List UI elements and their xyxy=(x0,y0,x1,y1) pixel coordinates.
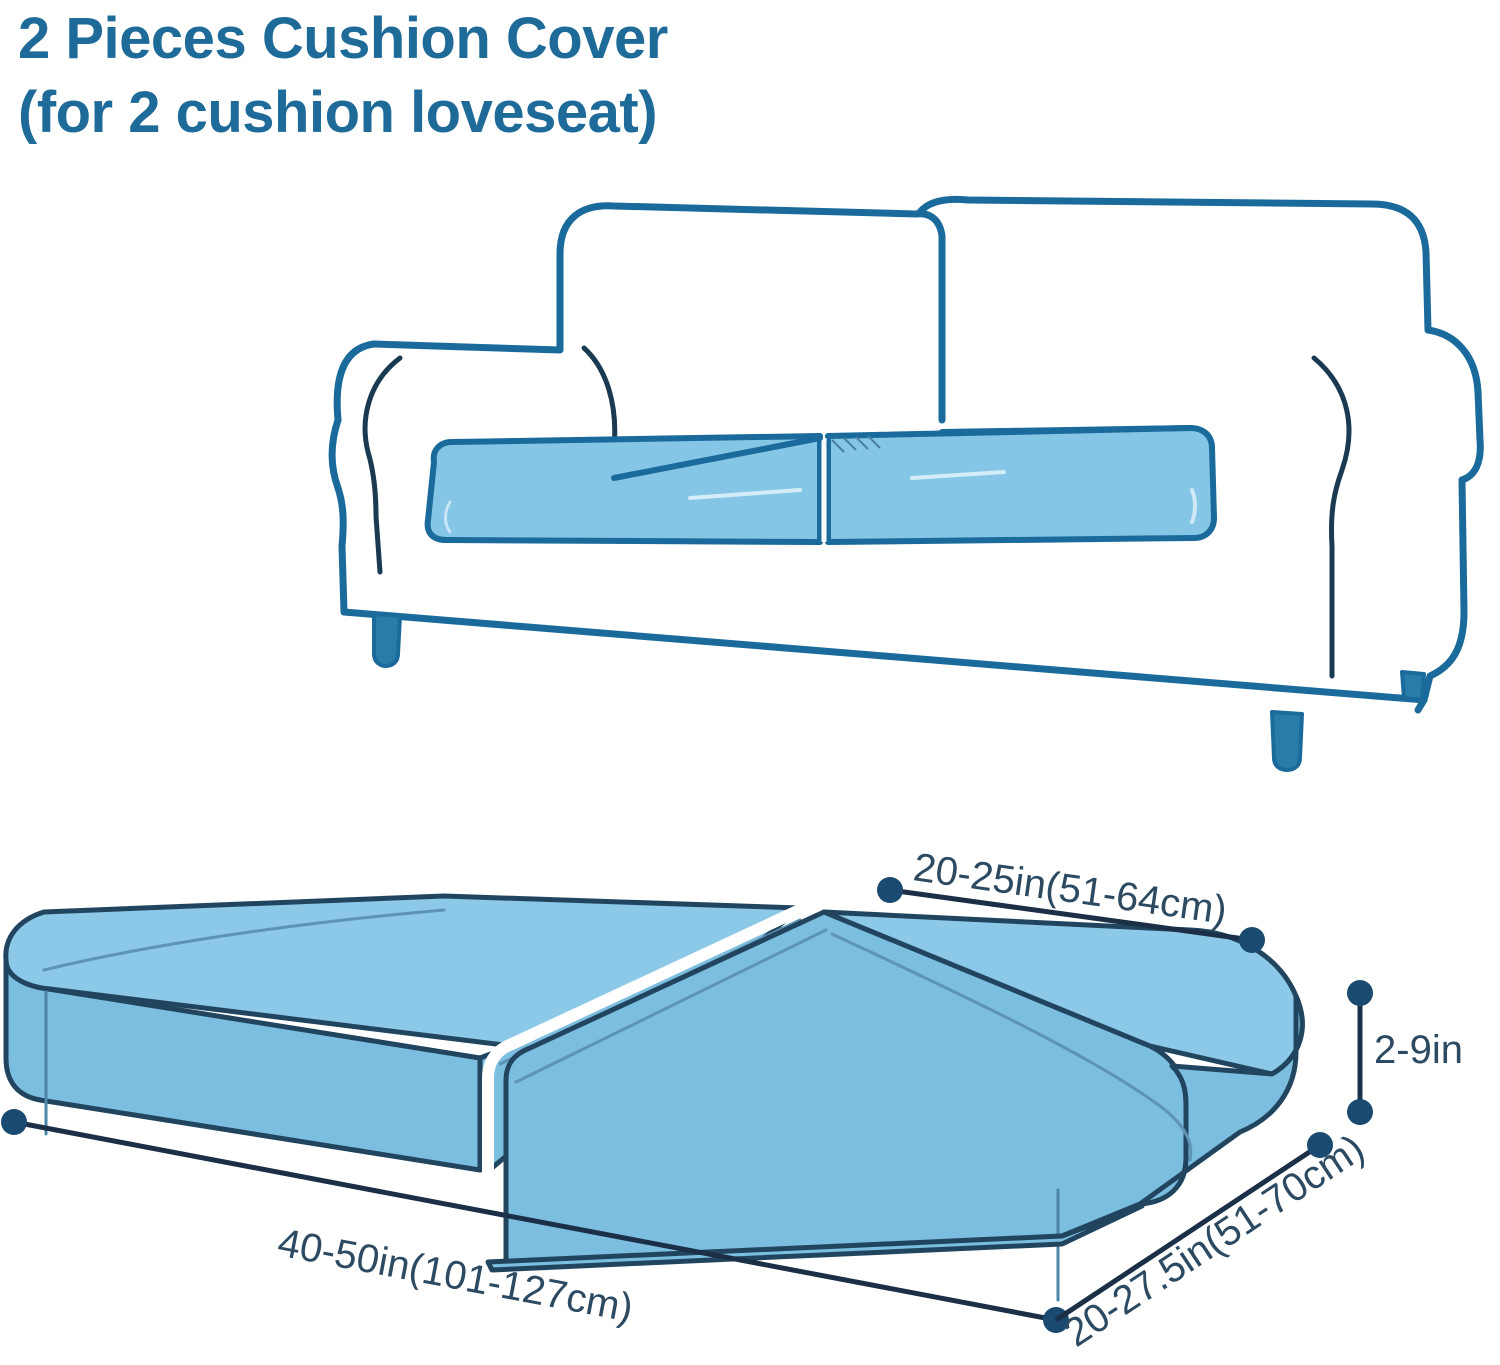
sofa-left-arm-outline xyxy=(332,420,344,612)
sofa-leg-front-left xyxy=(374,614,400,666)
dimension-depth-top-dot-end xyxy=(1239,927,1265,953)
sofa-seat-cushion-right xyxy=(828,428,1214,542)
sofa-illustration xyxy=(332,199,1484,770)
dimension-height-right-dot-top xyxy=(1347,980,1373,1006)
diagram-canvas: 20-25in(51-64cm) 2-9in 40-50in(101-127cm… xyxy=(0,0,1500,1365)
dimension-height-right-label: 2-9in xyxy=(1374,1028,1463,1072)
dimension-width-bottom-dot-start xyxy=(1,1109,27,1135)
product-dimension-diagram: 2 Pieces Cushion Cover (for 2 cushion lo… xyxy=(0,0,1500,1365)
sofa-leg-front-right xyxy=(1272,712,1302,770)
sofa-leg-back-right xyxy=(1402,672,1424,700)
cushion-pair-illustration xyxy=(6,896,1302,1300)
dimension-height-right-dot-bottom xyxy=(1347,1099,1373,1125)
sofa-seat-back-line-right xyxy=(942,428,1192,432)
dimension-depth-top-dot-start xyxy=(877,877,903,903)
dimension-height-right: 2-9in xyxy=(1347,980,1463,1125)
